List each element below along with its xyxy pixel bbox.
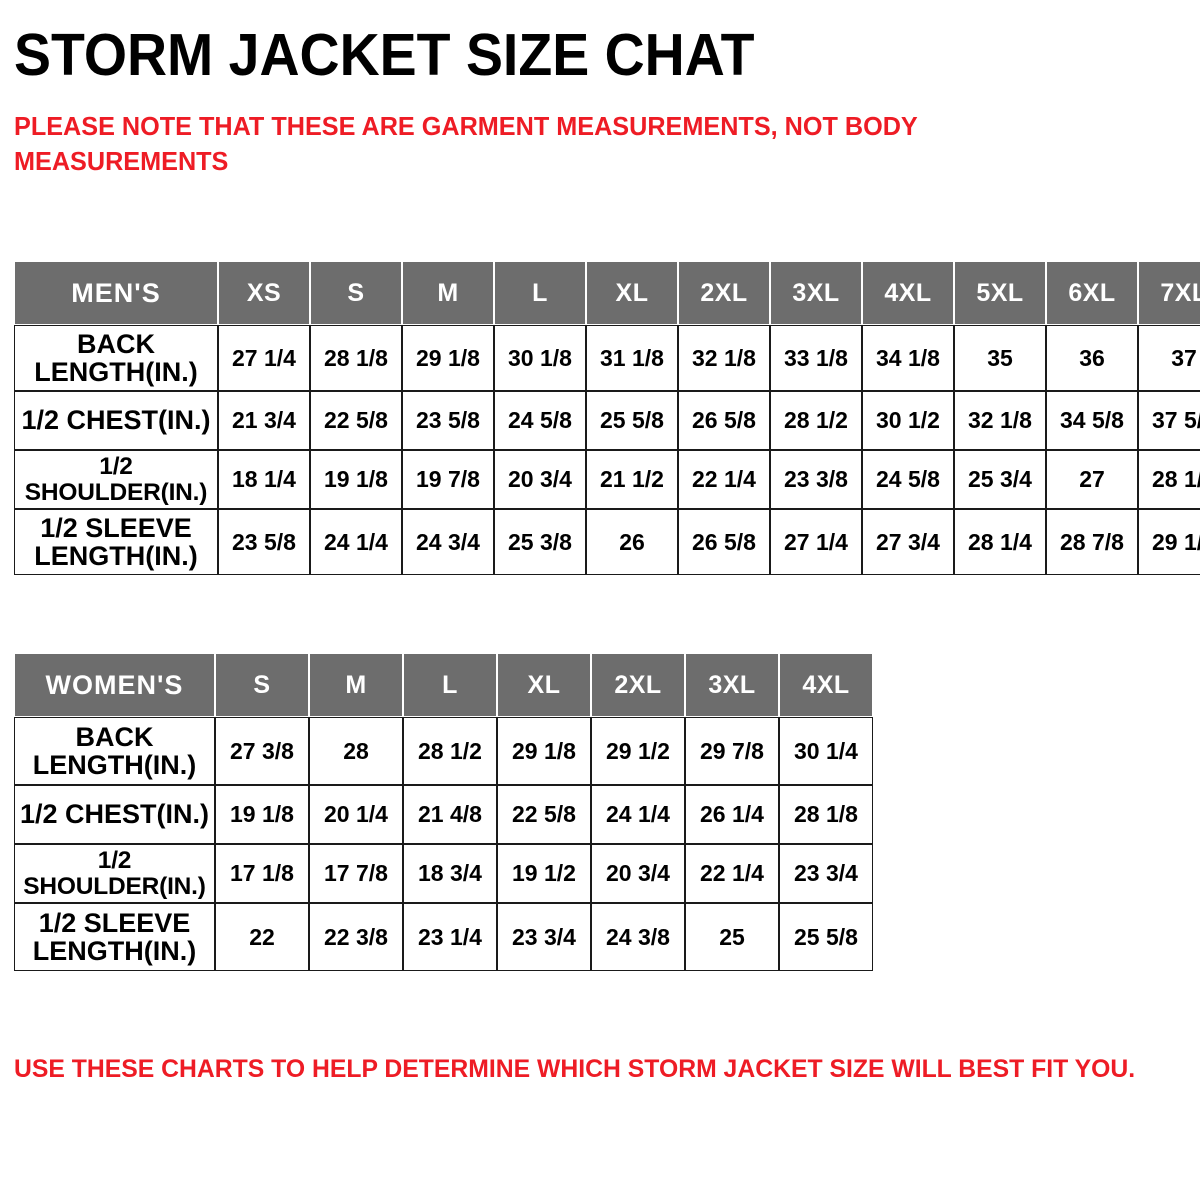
measurement-cell: 22 5/8 [497,785,591,844]
measurement-cell: 19 1/8 [310,450,402,509]
column-header-xl: XL [497,653,591,717]
womens-table-body: WOMEN'SSMLXL2XL3XL4XLBACK LENGTH(IN.)27 … [14,653,873,971]
row-label: 1/2 SLEEVE LENGTH(IN.) [14,509,218,575]
measurement-cell: 36 [1046,325,1138,391]
measurement-cell: 22 1/4 [685,844,779,903]
measurement-cell: 24 5/8 [862,450,954,509]
table-row: BACK LENGTH(IN.)27 3/82828 1/229 1/829 1… [14,717,873,785]
measurement-cell: 29 1/8 [402,325,494,391]
measurement-cell: 24 1/4 [310,509,402,575]
measurement-cell: 27 1/4 [770,509,862,575]
table-row: BACK LENGTH(IN.)27 1/428 1/829 1/830 1/8… [14,325,1200,391]
row-label: BACK LENGTH(IN.) [14,325,218,391]
measurement-cell: 26 5/8 [678,509,770,575]
table-row: 1/2 CHEST(IN.)21 3/422 5/823 5/824 5/825… [14,391,1200,450]
row-label: 1/2 CHEST(IN.) [14,785,215,844]
column-header-2xl: 2XL [678,261,770,325]
measurement-cell: 18 1/4 [218,450,310,509]
measurement-cell: 27 1/4 [218,325,310,391]
measurement-cell: 26 5/8 [678,391,770,450]
measurement-cell: 23 3/4 [497,903,591,971]
mens-size-table: MEN'SXSSMLXL2XL3XL4XL5XL6XL7XLBACK LENGT… [14,261,1200,575]
measurement-cell: 25 [685,903,779,971]
measurement-cell: 29 1/8 [497,717,591,785]
measurement-cell: 24 3/8 [591,903,685,971]
measurement-cell: 23 5/8 [218,509,310,575]
measurement-cell: 26 1/4 [685,785,779,844]
measurement-cell: 26 [586,509,678,575]
column-header-m: M [402,261,494,325]
table-header-row: MEN'SXSSMLXL2XL3XL4XL5XL6XL7XL [14,261,1200,325]
measurement-cell: 25 5/8 [779,903,873,971]
column-header-xs: XS [218,261,310,325]
measurement-cell: 23 5/8 [402,391,494,450]
measurement-cell: 25 5/8 [586,391,678,450]
measurement-cell: 28 1/4 [1138,450,1200,509]
garment-measurement-note: PLEASE NOTE THAT THESE ARE GARMENT MEASU… [14,109,945,178]
column-header-s: S [215,653,309,717]
measurement-cell: 37 5/8 [1138,391,1200,450]
column-header-4xl: 4XL [862,261,954,325]
measurement-cell: 31 1/8 [586,325,678,391]
measurement-cell: 21 3/4 [218,391,310,450]
table-row: 1/2 SHOULDER(IN.)18 1/419 1/819 7/820 3/… [14,450,1200,509]
table-corner-label: WOMEN'S [14,653,215,717]
measurement-cell: 20 3/4 [591,844,685,903]
column-header-l: L [494,261,586,325]
table-row: 1/2 SLEEVE LENGTH(IN.)23 5/824 1/424 3/4… [14,509,1200,575]
measurement-cell: 33 1/8 [770,325,862,391]
measurement-cell: 28 1/4 [954,509,1046,575]
size-chart-page: STORM JACKET SIZE CHAT PLEASE NOTE THAT … [0,0,1200,1200]
row-label: BACK LENGTH(IN.) [14,717,215,785]
column-header-3xl: 3XL [770,261,862,325]
measurement-cell: 19 1/8 [215,785,309,844]
measurement-cell: 19 1/2 [497,844,591,903]
measurement-cell: 32 1/8 [954,391,1046,450]
row-label: 1/2 CHEST(IN.) [14,391,218,450]
column-header-4xl: 4XL [779,653,873,717]
measurement-cell: 25 3/8 [494,509,586,575]
table-row: 1/2 SHOULDER(IN.)17 1/817 7/818 3/419 1/… [14,844,873,903]
womens-size-table: WOMEN'SSMLXL2XL3XL4XLBACK LENGTH(IN.)27 … [14,653,873,971]
row-label: 1/2 SHOULDER(IN.) [14,450,218,509]
measurement-cell: 28 1/8 [779,785,873,844]
measurement-cell: 37 [1138,325,1200,391]
measurement-cell: 19 7/8 [402,450,494,509]
measurement-cell: 34 5/8 [1046,391,1138,450]
measurement-cell: 23 3/4 [779,844,873,903]
row-label: 1/2 SLEEVE LENGTH(IN.) [14,903,215,971]
column-header-xl: XL [586,261,678,325]
measurement-cell: 21 1/2 [586,450,678,509]
measurement-cell: 21 4/8 [403,785,497,844]
measurement-cell: 20 1/4 [309,785,403,844]
mens-table-body: MEN'SXSSMLXL2XL3XL4XL5XL6XL7XLBACK LENGT… [14,261,1200,575]
measurement-cell: 22 5/8 [310,391,402,450]
column-header-5xl: 5XL [954,261,1046,325]
measurement-cell: 17 1/8 [215,844,309,903]
measurement-cell: 32 1/8 [678,325,770,391]
measurement-cell: 34 1/8 [862,325,954,391]
column-header-3xl: 3XL [685,653,779,717]
chart-usage-note: USE THESE CHARTS TO HELP DETERMINE WHICH… [14,1054,1135,1084]
measurement-cell: 18 3/4 [403,844,497,903]
measurement-cell: 20 3/4 [494,450,586,509]
measurement-cell: 35 [954,325,1046,391]
measurement-cell: 24 3/4 [402,509,494,575]
measurement-cell: 24 1/4 [591,785,685,844]
measurement-cell: 27 3/8 [215,717,309,785]
measurement-cell: 22 [215,903,309,971]
measurement-cell: 23 1/4 [403,903,497,971]
table-row: 1/2 CHEST(IN.)19 1/820 1/421 4/822 5/824… [14,785,873,844]
measurement-cell: 28 1/2 [770,391,862,450]
measurement-cell: 24 5/8 [494,391,586,450]
measurement-cell: 30 1/2 [862,391,954,450]
measurement-cell: 27 [1046,450,1138,509]
measurement-cell: 22 3/8 [309,903,403,971]
measurement-cell: 22 1/4 [678,450,770,509]
measurement-cell: 25 3/4 [954,450,1046,509]
measurement-cell: 30 1/8 [494,325,586,391]
measurement-cell: 28 1/2 [403,717,497,785]
column-header-6xl: 6XL [1046,261,1138,325]
measurement-cell: 28 7/8 [1046,509,1138,575]
measurement-cell: 17 7/8 [309,844,403,903]
measurement-cell: 27 3/4 [862,509,954,575]
page-title: STORM JACKET SIZE CHAT [14,0,1116,85]
table-row: 1/2 SLEEVE LENGTH(IN.)2222 3/823 1/423 3… [14,903,873,971]
column-header-2xl: 2XL [591,653,685,717]
measurement-cell: 28 [309,717,403,785]
table-corner-label: MEN'S [14,261,218,325]
measurement-cell: 29 1/2 [1138,509,1200,575]
measurement-cell: 28 1/8 [310,325,402,391]
column-header-s: S [310,261,402,325]
measurement-cell: 30 1/4 [779,717,873,785]
measurement-cell: 29 1/2 [591,717,685,785]
column-header-m: M [309,653,403,717]
table-header-row: WOMEN'SSMLXL2XL3XL4XL [14,653,873,717]
column-header-7xl: 7XL [1138,261,1200,325]
measurement-cell: 23 3/8 [770,450,862,509]
row-label: 1/2 SHOULDER(IN.) [14,844,215,903]
column-header-l: L [403,653,497,717]
measurement-cell: 29 7/8 [685,717,779,785]
